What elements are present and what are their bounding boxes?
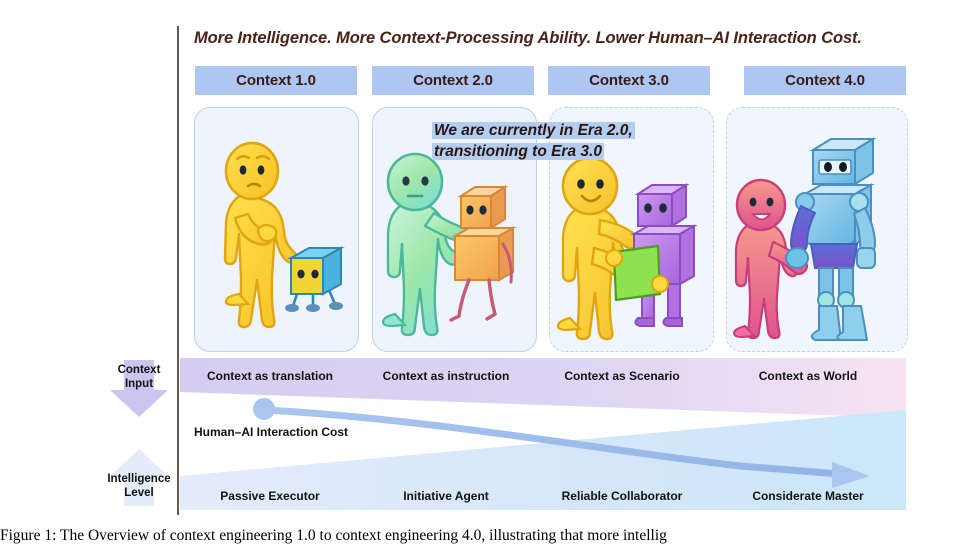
scene-illustration-1 xyxy=(195,108,358,351)
callout-line-1: We are currently in Era 2.0, xyxy=(432,122,635,139)
intelligence-role-4: Considerate Master xyxy=(710,487,906,505)
era-panel-1 xyxy=(194,107,359,352)
intelligence-role-3: Reliable Collaborator xyxy=(534,487,710,505)
era-badge-1[interactable]: Context 1.0 xyxy=(195,66,357,95)
cost-curve-label: Human–AI Interaction Cost xyxy=(194,425,348,439)
axis-label-context-input: Context Input xyxy=(96,364,182,391)
figure-caption: Figure 1: The Overview of context engine… xyxy=(0,527,960,545)
axis-label-intelligence-level-line1: Intelligence xyxy=(107,473,170,485)
figure-container: More Intelligence. More Context-Processi… xyxy=(0,0,960,549)
intelligence-role-2: Initiative Agent xyxy=(358,487,534,505)
era-panel-4 xyxy=(726,107,908,352)
era-badge-4[interactable]: Context 4.0 xyxy=(744,66,906,95)
era-badge-2[interactable]: Context 2.0 xyxy=(372,66,534,95)
callout-line-2: transitioning to Era 3.0 xyxy=(432,143,604,160)
context-role-2: Context as instruction xyxy=(358,367,534,385)
vertical-divider xyxy=(177,26,179,515)
era-badge-3[interactable]: Context 3.0 xyxy=(548,66,710,95)
axis-label-intelligence-level: Intelligence Level xyxy=(96,473,182,500)
context-role-3: Context as Scenario xyxy=(534,367,710,385)
axis-label-context-input-line1: Context xyxy=(118,364,161,376)
intelligence-role-1: Passive Executor xyxy=(182,487,358,505)
transition-callout: We are currently in Era 2.0, transitioni… xyxy=(432,120,635,162)
context-role-4: Context as World xyxy=(710,367,906,385)
axis-label-context-input-line2: Input xyxy=(125,378,153,390)
scene-illustration-4 xyxy=(727,108,907,351)
cost-curve-start-dot xyxy=(253,398,275,420)
context-role-1: Context as translation xyxy=(182,367,358,385)
axis-label-intelligence-level-line2: Level xyxy=(124,487,153,499)
figure-headline: More Intelligence. More Context-Processi… xyxy=(194,29,950,53)
